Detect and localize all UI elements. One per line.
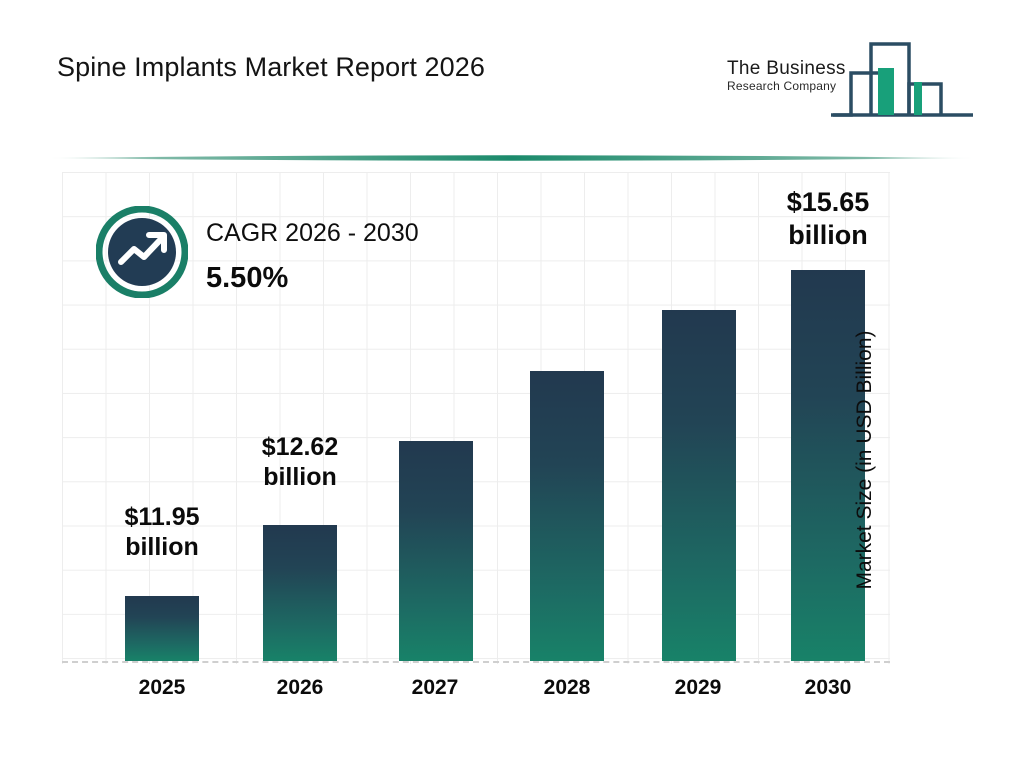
cagr-callout: CAGR 2026 - 2030 5.50% bbox=[96, 206, 516, 306]
bar-2027[interactable] bbox=[399, 441, 473, 661]
bar-value-2025-amount: $11.95 bbox=[87, 502, 237, 532]
bar-2029[interactable] bbox=[662, 310, 736, 661]
cagr-value: 5.50% bbox=[206, 262, 288, 295]
bar-value-2026: $12.62 billion bbox=[225, 432, 375, 492]
bar-2026[interactable] bbox=[263, 525, 337, 661]
bar-value-2025: $11.95 billion bbox=[87, 502, 237, 562]
x-label-2030: 2030 bbox=[768, 676, 888, 700]
bar-2025[interactable] bbox=[125, 596, 199, 661]
bar-2028[interactable] bbox=[530, 371, 604, 661]
bar-value-2030-unit: billion bbox=[753, 219, 903, 252]
x-label-2025: 2025 bbox=[102, 676, 222, 700]
axis-baseline bbox=[62, 661, 890, 663]
bar-value-2026-amount: $12.62 bbox=[225, 432, 375, 462]
trending-up-icon bbox=[96, 206, 188, 298]
bar-value-2030-amount: $15.65 bbox=[753, 186, 903, 219]
y-axis-label: Market Size (in USD Billion) bbox=[853, 290, 877, 630]
bar-value-2030: $15.65 billion bbox=[753, 186, 903, 252]
x-label-2029: 2029 bbox=[638, 676, 758, 700]
bar-value-2026-unit: billion bbox=[225, 462, 375, 492]
x-label-2027: 2027 bbox=[375, 676, 495, 700]
x-label-2028: 2028 bbox=[507, 676, 627, 700]
bar-value-2025-unit: billion bbox=[87, 532, 237, 562]
bar-chart: $11.95 billion $12.62 billion $15.65 bil… bbox=[0, 0, 1024, 768]
cagr-period-label: CAGR 2026 - 2030 bbox=[206, 219, 419, 248]
x-label-2026: 2026 bbox=[240, 676, 360, 700]
